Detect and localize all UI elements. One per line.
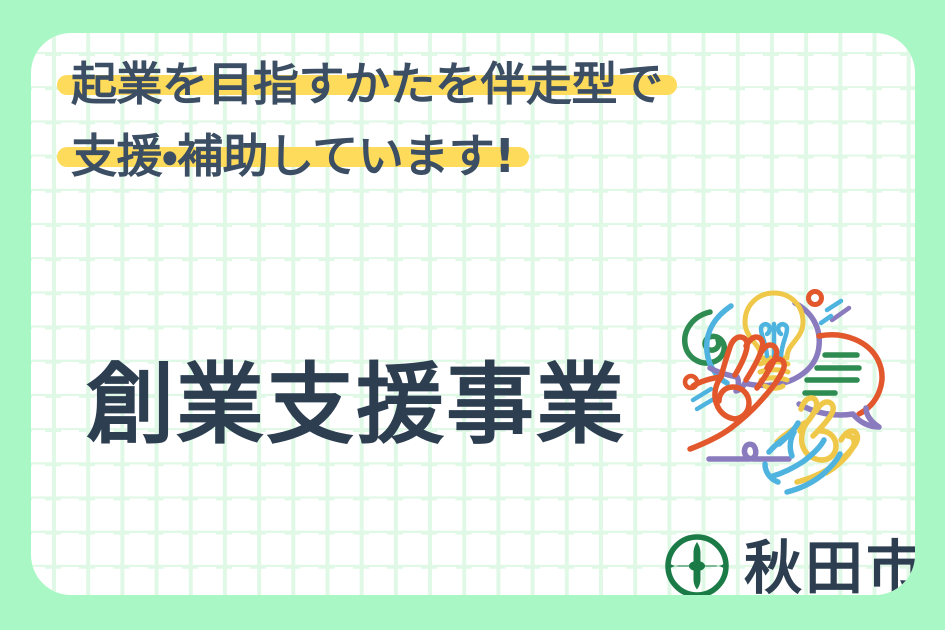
headline-line-2: 支援・補助しています! <box>57 147 529 167</box>
collaboration-illustration <box>669 276 915 501</box>
poster-root: 起業を目指すかたを伴走型で 支援・補助しています! 創業支援事業 <box>0 0 945 630</box>
akita-city-emblem-icon <box>664 533 730 595</box>
white-card: 起業を目指すかたを伴走型で 支援・補助しています! 創業支援事業 <box>31 33 915 595</box>
city-name-label: 秋田市 <box>744 539 915 595</box>
headline-line-1: 起業を目指すかたを伴走型で <box>57 75 677 95</box>
main-title: 創業支援事業 <box>86 355 626 455</box>
city-logo: 秋田市 <box>664 533 915 595</box>
headline-line-2-row: 支援・補助しています! <box>57 129 529 183</box>
illustration-svg <box>669 276 915 501</box>
headline: 起業を目指すかたを伴走型で 支援・補助しています! <box>57 48 877 192</box>
akita-city-emblem-svg <box>664 533 730 595</box>
headline-line-1-row: 起業を目指すかたを伴走型で <box>57 57 677 111</box>
